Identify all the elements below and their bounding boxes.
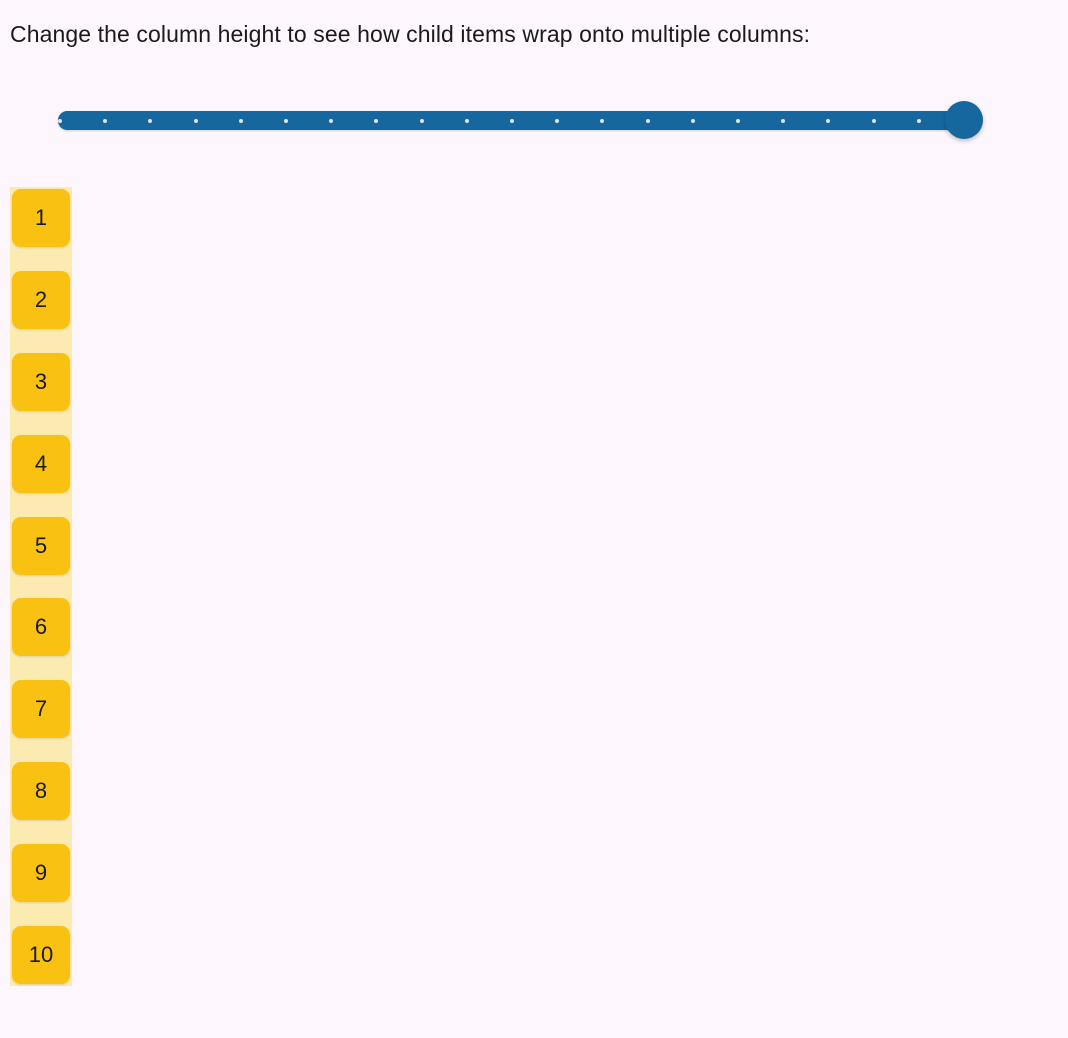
flex-item-label: 4: [35, 453, 47, 475]
flex-item: 5: [12, 517, 70, 575]
slider-track[interactable]: [58, 111, 963, 130]
flex-item: 2: [12, 271, 70, 329]
flex-item: 1: [12, 189, 70, 247]
flex-item: 10: [12, 926, 70, 984]
flex-item-label: 1: [35, 207, 47, 229]
flex-item-label: 8: [35, 780, 47, 802]
page-title: Change the column height to see how chil…: [10, 18, 810, 50]
flex-item-label: 2: [35, 289, 47, 311]
flex-item: 6: [12, 598, 70, 656]
flex-item: 7: [12, 680, 70, 738]
column-height-slider[interactable]: [58, 100, 982, 142]
flex-item-label: 5: [35, 535, 47, 557]
flex-item-label: 10: [29, 944, 53, 966]
flex-item-label: 9: [35, 862, 47, 884]
flex-item-label: 6: [35, 616, 47, 638]
slider-fill: [58, 111, 963, 130]
flex-item: 4: [12, 435, 70, 493]
flex-item: 3: [12, 353, 70, 411]
flex-item: 8: [12, 762, 70, 820]
flex-item-label: 7: [35, 698, 47, 720]
wrapping-column-container: 12345678910: [10, 187, 72, 986]
slider-thumb[interactable]: [945, 101, 983, 139]
flex-item-label: 3: [35, 371, 47, 393]
flex-item: 9: [12, 844, 70, 902]
